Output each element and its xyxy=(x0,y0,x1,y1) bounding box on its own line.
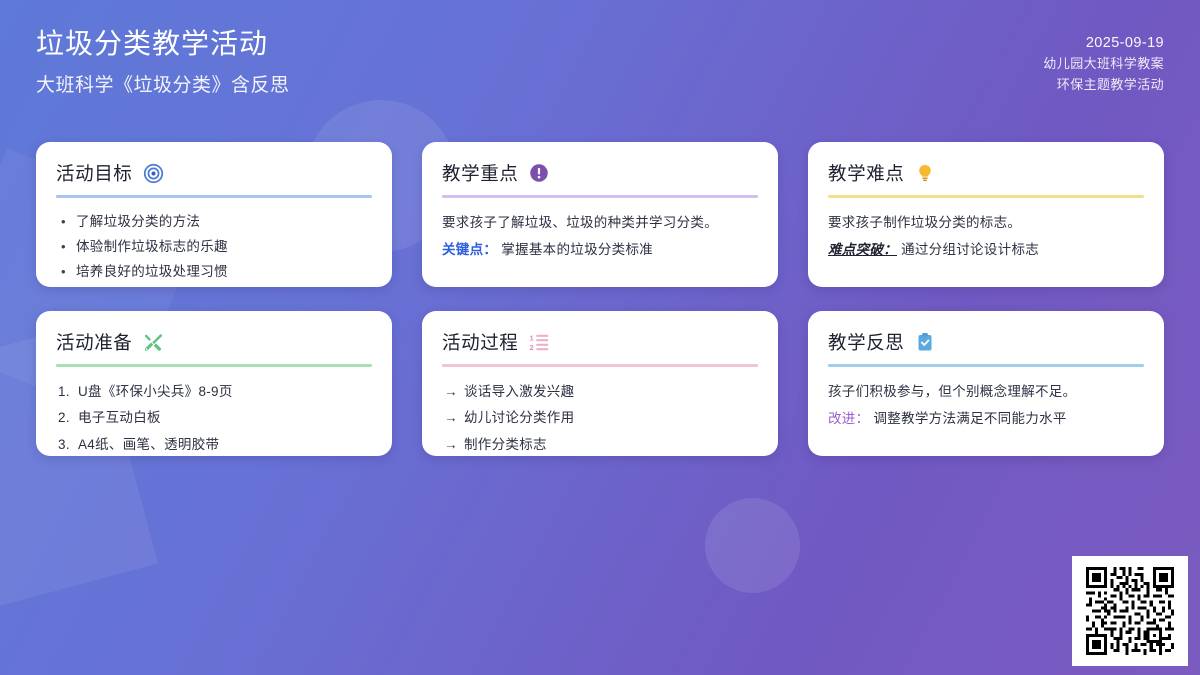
card-header: 活动目标 xyxy=(56,160,372,186)
card-header: 教学难点 xyxy=(828,160,1144,186)
card-rule xyxy=(56,364,372,367)
list-item: 体验制作垃圾标志的乐趣 xyxy=(56,235,372,260)
header-meta: 2025-09-19 幼儿园大班科学教案 环保主题教学活动 xyxy=(1043,32,1164,95)
slide-header: 垃圾分类教学活动 大班科学《垃圾分类》含反思 2025-09-19 幼儿园大班科… xyxy=(0,0,1200,120)
slide-root: 垃圾分类教学活动 大班科学《垃圾分类》含反思 2025-09-19 幼儿园大班科… xyxy=(0,0,1200,675)
card-body: 孩子们积极参与，但个别概念理解不足。 改进： 调整教学方法满足不同能力水平 xyxy=(828,379,1144,431)
key-points-paragraph: 要求孩子了解垃圾、垃圾的种类并学习分类。 xyxy=(442,210,758,236)
reflection-highlight: 改进： 调整教学方法满足不同能力水平 xyxy=(828,406,1144,432)
card-objectives[interactable]: 活动目标 了解垃圾分类的方法 体验制作垃圾标志的乐趣 培养良好的垃圾处理习惯 xyxy=(36,142,392,287)
card-rule xyxy=(442,364,758,367)
reflection-value: 调整教学方法满足不同能力水平 xyxy=(873,411,1066,426)
card-title: 教学难点 xyxy=(828,160,904,186)
target-icon xyxy=(142,162,164,184)
card-title: 活动目标 xyxy=(56,160,132,186)
card-process[interactable]: 活动过程 1 2 谈话导入激发兴趣 幼儿讨论分类作用 xyxy=(422,311,778,456)
card-title: 教学反思 xyxy=(828,329,904,355)
qr-code[interactable] xyxy=(1072,556,1188,666)
qr-code-image xyxy=(1086,567,1174,655)
card-body: 要求孩子了解垃圾、垃圾的种类并学习分类。 关键点： 掌握基本的垃圾分类标准 xyxy=(442,210,758,262)
card-preparation[interactable]: 活动准备 U盘《环保小尖兵》8-9页 电子互动白板 A4纸、画笔、透明 xyxy=(36,311,392,456)
header-left: 垃圾分类教学活动 大班科学《垃圾分类》含反思 xyxy=(36,26,290,97)
process-list: 谈话导入激发兴趣 幼儿讨论分类作用 制作分类标志 xyxy=(442,379,758,456)
difficulties-highlight: 难点突破： 通过分组讨论设计标志 xyxy=(828,237,1144,263)
tools-icon xyxy=(142,331,164,353)
card-rule xyxy=(828,195,1144,198)
card-grid: 活动目标 了解垃圾分类的方法 体验制作垃圾标志的乐趣 培养良好的垃圾处理习惯 xyxy=(36,142,1164,456)
objectives-list: 了解垃圾分类的方法 体验制作垃圾标志的乐趣 培养良好的垃圾处理习惯 xyxy=(56,210,372,285)
page-title: 垃圾分类教学活动 xyxy=(36,26,290,62)
meta-theme: 环保主题教学活动 xyxy=(1043,75,1164,95)
meta-course: 幼儿园大班科学教案 xyxy=(1043,54,1164,74)
card-title: 教学重点 xyxy=(442,160,518,186)
card-rule xyxy=(828,364,1144,367)
card-title: 活动准备 xyxy=(56,329,132,355)
svg-text:2: 2 xyxy=(529,342,533,351)
card-header: 活动准备 xyxy=(56,329,372,355)
key-points-highlight: 关键点： 掌握基本的垃圾分类标准 xyxy=(442,237,758,263)
preparation-list: U盘《环保小尖兵》8-9页 电子互动白板 A4纸、画笔、透明胶带 xyxy=(56,379,372,456)
numbered-list-icon: 1 2 xyxy=(528,331,550,353)
meta-date: 2025-09-19 xyxy=(1043,32,1164,54)
key-points-label: 关键点： xyxy=(442,242,497,257)
list-item: 制作分类标志 xyxy=(442,432,758,456)
list-item: U盘《环保小尖兵》8-9页 xyxy=(56,379,372,405)
difficulties-value: 通过分组讨论设计标志 xyxy=(901,242,1039,257)
card-body: U盘《环保小尖兵》8-9页 电子互动白板 A4纸、画笔、透明胶带 xyxy=(56,379,372,456)
card-key-points[interactable]: 教学重点 要求孩子了解垃圾、垃圾的种类并学习分类。 关键点： 掌握基本的垃圾分类… xyxy=(422,142,778,287)
list-item: 电子互动白板 xyxy=(56,405,372,431)
card-difficulties[interactable]: 教学难点 要求孩子制作垃圾分类的标志。 难点突破： 通过分组讨论设计标志 xyxy=(808,142,1164,287)
list-item: 幼儿讨论分类作用 xyxy=(442,405,758,431)
card-body: 了解垃圾分类的方法 体验制作垃圾标志的乐趣 培养良好的垃圾处理习惯 xyxy=(56,210,372,285)
difficulties-paragraph: 要求孩子制作垃圾分类的标志。 xyxy=(828,210,1144,236)
card-header: 活动过程 1 2 xyxy=(442,329,758,355)
card-header: 教学反思 xyxy=(828,329,1144,355)
key-points-value: 掌握基本的垃圾分类标准 xyxy=(501,242,653,257)
reflection-label: 改进： xyxy=(828,411,869,426)
reflection-paragraph: 孩子们积极参与，但个别概念理解不足。 xyxy=(828,379,1144,405)
list-item: 了解垃圾分类的方法 xyxy=(56,210,372,235)
clipboard-check-icon xyxy=(914,331,936,353)
list-item: 培养良好的垃圾处理习惯 xyxy=(56,260,372,285)
decorative-circle-mid xyxy=(705,498,800,593)
svg-text:1: 1 xyxy=(529,333,533,342)
card-rule xyxy=(56,195,372,198)
card-header: 教学重点 xyxy=(442,160,758,186)
exclamation-circle-icon xyxy=(528,162,550,184)
card-body: 谈话导入激发兴趣 幼儿讨论分类作用 制作分类标志 xyxy=(442,379,758,456)
list-item: A4纸、画笔、透明胶带 xyxy=(56,432,372,456)
card-body: 要求孩子制作垃圾分类的标志。 难点突破： 通过分组讨论设计标志 xyxy=(828,210,1144,262)
list-item: 谈话导入激发兴趣 xyxy=(442,379,758,405)
difficulties-label: 难点突破： xyxy=(828,242,897,257)
card-rule xyxy=(442,195,758,198)
card-title: 活动过程 xyxy=(442,329,518,355)
page-subtitle: 大班科学《垃圾分类》含反思 xyxy=(36,70,290,97)
card-reflection[interactable]: 教学反思 孩子们积极参与，但个别概念理解不足。 改进： 调整教学方法满足不同能力… xyxy=(808,311,1164,456)
lightbulb-icon xyxy=(914,162,936,184)
